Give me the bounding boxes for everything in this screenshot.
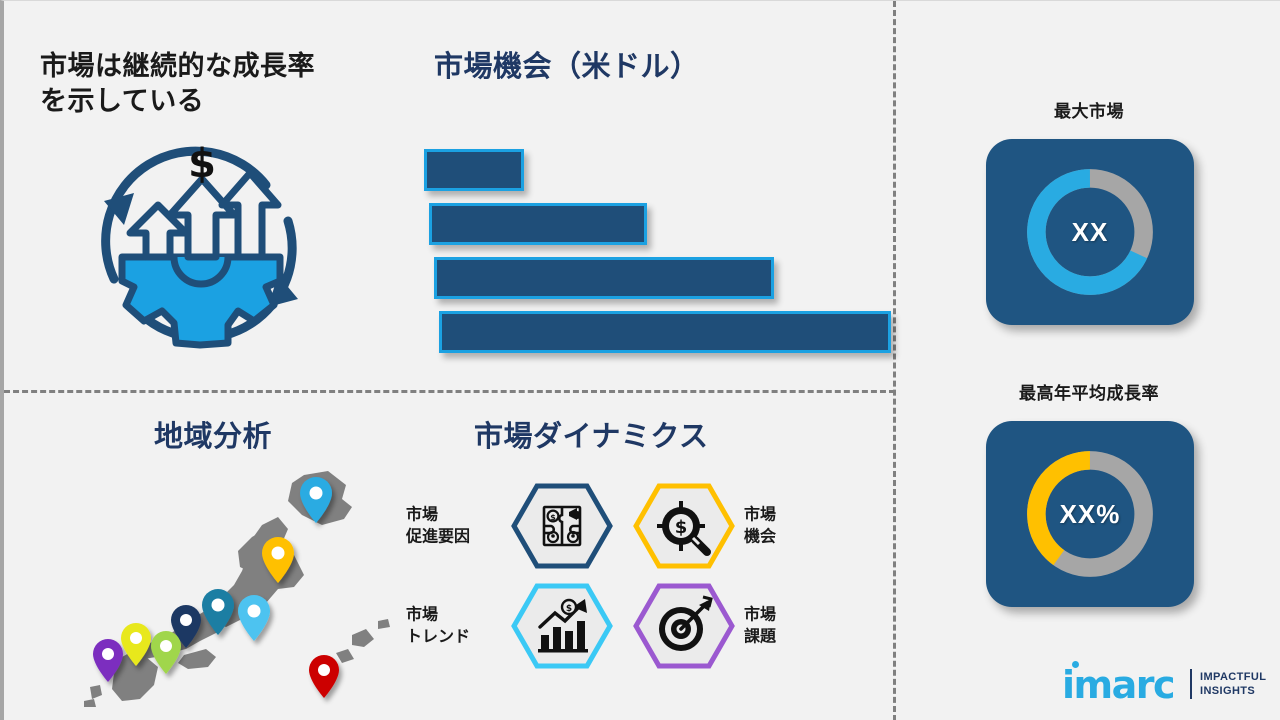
target-dart-icon — [633, 583, 735, 669]
page-title-opportunity: 市場機会（米ドル） — [434, 49, 854, 86]
dynamics-label: 市場 課題 — [744, 604, 840, 647]
dynamics-item-opportunities[interactable]: $ 市場 機会 — [627, 483, 842, 569]
bar-chart-arrow-icon: $ — [511, 583, 613, 669]
dollar-symbol: $ — [188, 141, 216, 187]
divider-vertical — [893, 1, 896, 720]
bar-row — [439, 311, 891, 353]
donut-card-highest-cagr: XX% — [986, 421, 1194, 607]
market-opportunity-bar-chart — [422, 147, 882, 352]
growth-cycle-gear-icon: $ — [76, 129, 326, 369]
imarc-tagline: IMPACTFUL INSIGHTS — [1200, 671, 1266, 699]
donut-center-value: XX — [986, 139, 1194, 325]
market-dynamics-group: 市場 促進要因 $ — [402, 483, 842, 673]
imarc-logo-divider — [1190, 669, 1192, 699]
dynamics-item-drivers[interactable]: 市場 促進要因 $ — [402, 483, 617, 569]
dynamics-label: 市場 トレンド — [406, 604, 506, 647]
page-title-dynamics: 市場ダイナミクス — [474, 419, 814, 456]
donut-center-value: XX% — [986, 421, 1194, 607]
marker-okinawa — [309, 655, 339, 698]
bar-row — [429, 203, 647, 245]
dynamics-label: 市場 促進要因 — [406, 504, 506, 547]
page-title-regional: 地域分析 — [154, 419, 414, 456]
dynamics-item-trends[interactable]: 市場 トレンド $ — [402, 583, 617, 669]
marker-kanto — [238, 595, 270, 641]
bar-row — [424, 149, 524, 191]
bar-row — [434, 257, 774, 299]
japan-landmass — [84, 471, 390, 707]
imarc-logo: imarc IMPACTFUL INSIGHTS — [1062, 661, 1262, 709]
slide-canvas: 市場は継続的な成長率 を示している $ 市場機会（米ドル） — [0, 0, 1280, 720]
donut-title-largest-market: 最大市場 — [959, 97, 1219, 122]
dynamics-label: 市場 機会 — [744, 504, 840, 547]
japan-map — [66, 463, 396, 708]
page-title-growth: 市場は継続的な成長率 を示している — [40, 49, 400, 118]
svg-text:$: $ — [566, 604, 572, 614]
donut-title-highest-cagr: 最高年平均成長率 — [959, 379, 1219, 404]
magnifier-dollar-icon: $ — [633, 483, 735, 569]
divider-horizontal — [4, 390, 895, 393]
svg-text:$: $ — [550, 513, 556, 522]
puzzle-pieces-icon: $ — [511, 483, 613, 569]
imarc-wordmark: imarc — [1062, 663, 1174, 707]
dynamics-item-challenges[interactable]: 市場 課題 — [627, 583, 842, 669]
svg-text:$: $ — [675, 517, 688, 538]
donut-card-largest-market: XX — [986, 139, 1194, 325]
